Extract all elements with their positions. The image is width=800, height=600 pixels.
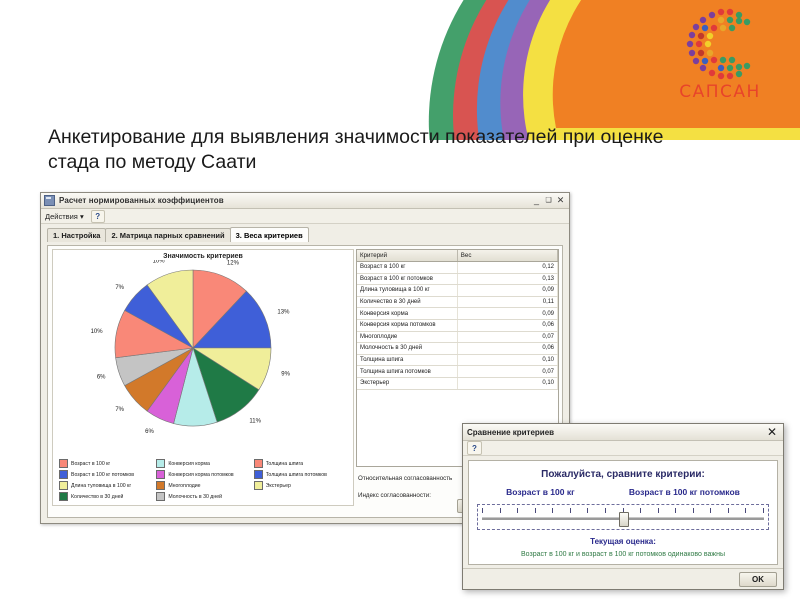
slider-tick xyxy=(517,508,518,513)
legend-item[interactable]: Возраст в 100 кг потомков xyxy=(59,470,154,479)
legend-label: Экстерьер xyxy=(266,483,291,489)
cell-weight: 0,06 xyxy=(457,343,557,355)
criterion-left-label: Возраст в 100 кг xyxy=(506,487,575,497)
column-header-criterion[interactable]: Критерий xyxy=(357,250,457,262)
ok-button[interactable]: OK xyxy=(739,572,777,587)
pie-percent-label: 10% xyxy=(153,260,166,265)
cell-weight: 0,09 xyxy=(457,285,557,297)
pie-percent-label: 6% xyxy=(145,429,154,435)
tab-settings[interactable]: 1. Настройка xyxy=(47,228,106,242)
tabstrip: 1. Настройка 2. Матрица парных сравнений… xyxy=(47,228,569,242)
legend-label: Длина туловища в 100 кг xyxy=(71,483,131,489)
page-title: Анкетирование для выявления значимости п… xyxy=(48,125,688,175)
maximize-button[interactable]: ❑ xyxy=(543,195,554,206)
legend-swatch-icon xyxy=(254,459,263,468)
cell-criterion: Конверсия корма потомков xyxy=(357,319,457,331)
cell-criterion: Экстерьер xyxy=(357,377,457,389)
legend-item[interactable]: Толщина шпига потомков xyxy=(254,470,349,479)
weights-table: Критерий Вес Возраст в 100 кг0,12Возраст… xyxy=(357,250,558,390)
logo: САПСАН xyxy=(655,8,785,108)
legend-swatch-icon xyxy=(156,459,165,468)
legend-swatch-icon xyxy=(59,459,68,468)
criterion-right-label: Возраст в 100 кг потомков xyxy=(629,487,740,497)
slider-tick xyxy=(552,508,553,513)
table-row[interactable]: Количество в 30 дней0,11 xyxy=(357,296,558,308)
table-body: Возраст в 100 кг0,12Возраст в 100 кг пот… xyxy=(357,262,558,390)
cell-criterion: Многоплодие xyxy=(357,331,457,343)
fade-mask-gradient xyxy=(300,0,430,140)
slider-tick xyxy=(482,508,483,513)
relative-consistency-label: Относительная согласованность xyxy=(358,475,466,482)
dialog-titlebar: Сравнение критериев ✕ xyxy=(463,424,783,441)
pie-percent-label: 10% xyxy=(91,329,104,335)
logo-dot-mark-icon xyxy=(675,8,765,80)
slider-thumb[interactable] xyxy=(619,512,629,527)
table-header-row: Критерий Вес xyxy=(357,250,558,262)
cell-weight: 0,09 xyxy=(457,308,557,320)
help-icon[interactable]: ? xyxy=(91,210,105,223)
legend-item[interactable]: Конверсия корма xyxy=(156,459,251,468)
slider-tick xyxy=(640,508,641,513)
comparison-slider[interactable] xyxy=(477,504,769,530)
table-row[interactable]: Возраст в 100 кг потомков0,13 xyxy=(357,273,558,285)
legend-label: Количество в 30 дней xyxy=(71,494,123,500)
slider-tick xyxy=(763,508,764,513)
legend-item[interactable]: Многоплодие xyxy=(156,481,251,490)
cell-criterion: Конверсия корма xyxy=(357,308,457,320)
legend-swatch-icon xyxy=(254,481,263,490)
cell-weight: 0,06 xyxy=(457,319,557,331)
column-header-weight[interactable]: Вес xyxy=(457,250,557,262)
table-row[interactable]: Возраст в 100 кг0,12 xyxy=(357,262,558,274)
cell-criterion: Толщина шпига xyxy=(357,354,457,366)
legend-swatch-icon xyxy=(59,492,68,501)
legend-swatch-icon xyxy=(254,470,263,479)
cell-criterion: Количество в 30 дней xyxy=(357,296,457,308)
table-row[interactable]: Экстерьер0,10 xyxy=(357,377,558,389)
legend-swatch-icon xyxy=(59,481,68,490)
pie-percent-label: 13% xyxy=(277,310,290,316)
pie-percent-label: 9% xyxy=(281,372,290,378)
legend-label: Молочность в 30 дней xyxy=(168,494,222,500)
slider-tick xyxy=(693,508,694,513)
pie-percent-label: 7% xyxy=(115,407,124,413)
table-row[interactable]: Конверсия корма0,09 xyxy=(357,308,558,320)
slider-tick xyxy=(605,508,606,513)
table-row[interactable]: Конверсия корма потомков0,06 xyxy=(357,319,558,331)
cell-weight: 0,12 xyxy=(457,262,557,274)
cell-criterion: Возраст в 100 кг потомков xyxy=(357,273,457,285)
legend-label: Толщина шпига потомков xyxy=(266,472,327,478)
app-titlebar: Расчет нормированных коэффициентов _ ❑ ✕ xyxy=(41,193,569,209)
pie-percent-label: 6% xyxy=(97,374,106,380)
legend-item[interactable]: Количество в 30 дней xyxy=(59,492,154,501)
tab-criteria-weights[interactable]: 3. Веса критериев xyxy=(230,227,309,242)
dialog-body: Пожалуйста, сравните критерии: Возраст в… xyxy=(468,460,778,565)
cell-weight: 0,13 xyxy=(457,273,557,285)
evaluation-label: Текущая оценка: xyxy=(469,537,777,546)
legend-label: Возраст в 100 кг потомков xyxy=(71,472,134,478)
legend-item[interactable]: Возраст в 100 кг xyxy=(59,459,154,468)
pie-chart-svg[interactable]: 12%13%9%11%9%6%7%6%10%7%10% xyxy=(65,260,341,438)
dialog-title: Сравнение критериев xyxy=(467,428,765,437)
slider-tick xyxy=(587,508,588,513)
cell-criterion: Длина туловища в 100 кг xyxy=(357,285,457,297)
dialog-prompt: Пожалуйста, сравните критерии: xyxy=(469,469,777,480)
document-icon xyxy=(44,195,55,206)
legend-swatch-icon xyxy=(156,481,165,490)
legend-label: Конверсия корма xyxy=(168,461,210,467)
table-row[interactable]: Длина туловища в 100 кг0,09 xyxy=(357,285,558,297)
table-head: Критерий Вес xyxy=(357,250,558,262)
slider-tick xyxy=(535,508,536,513)
pie-chart-panel: Значимость критериев 12%13%9%11%9%6%7%6%… xyxy=(52,249,354,506)
cell-criterion: Молочность в 30 дней xyxy=(357,343,457,355)
slider-tick xyxy=(728,508,729,513)
menu-item-actions[interactable]: Действия ▾ xyxy=(45,212,84,221)
evaluation-value: Возраст в 100 кг и возраст в 100 кг пото… xyxy=(469,551,777,558)
cell-weight: 0,10 xyxy=(457,354,557,366)
comparison-dialog: Сравнение критериев ✕ ? Пожалуйста, срав… xyxy=(462,423,784,590)
legend-swatch-icon xyxy=(156,470,165,479)
pie-percent-label: 12% xyxy=(227,261,240,267)
chart-title: Значимость критериев xyxy=(53,253,353,260)
logo-dots-group xyxy=(687,9,750,79)
cell-criterion: Возраст в 100 кг xyxy=(357,262,457,274)
slider-tick xyxy=(675,508,676,513)
slider-tick xyxy=(570,508,571,513)
dialog-toolbar: ? xyxy=(463,441,783,456)
legend-label: Толщина шпига xyxy=(266,461,303,467)
pie-percent-label: 11% xyxy=(249,419,261,425)
legend-item[interactable]: Конверсия корма потомков xyxy=(156,470,251,479)
cell-criterion: Толщина шпига потомков xyxy=(357,366,457,378)
legend-swatch-icon xyxy=(59,470,68,479)
close-button[interactable]: ✕ xyxy=(555,195,566,206)
dialog-help-icon[interactable]: ? xyxy=(467,441,482,455)
cell-weight: 0,07 xyxy=(457,331,557,343)
pie-percent-label: 7% xyxy=(115,285,124,291)
dialog-footer: OK xyxy=(463,568,783,589)
table-row[interactable]: Многоплодие0,07 xyxy=(357,331,558,343)
slider-tick xyxy=(658,508,659,513)
cell-weight: 0,10 xyxy=(457,377,557,389)
chart-legend: Возраст в 100 кгКонверсия кормаТолщина ш… xyxy=(59,459,349,501)
legend-item[interactable]: Толщина шпига xyxy=(254,459,349,468)
table-row[interactable]: Толщина шпига потомков0,07 xyxy=(357,366,558,378)
legend-item[interactable]: Экстерьер xyxy=(254,481,349,490)
criteria-pair-row: Возраст в 100 кг Возраст в 100 кг потомк… xyxy=(469,487,777,497)
legend-label: Многоплодие xyxy=(168,483,200,489)
slider-tick xyxy=(710,508,711,513)
logo-wordmark: САПСАН xyxy=(655,82,785,102)
minimize-button[interactable]: _ xyxy=(531,195,542,206)
legend-item[interactable]: Длина туловища в 100 кг xyxy=(59,481,154,490)
app-window-title: Расчет нормированных коэффициентов xyxy=(59,196,530,205)
tab-pairwise-matrix[interactable]: 2. Матрица парных сравнений xyxy=(105,228,230,242)
cell-weight: 0,07 xyxy=(457,366,557,378)
slider-tick xyxy=(745,508,746,513)
legend-item[interactable]: Молочность в 30 дней xyxy=(156,492,251,501)
legend-label: Возраст в 100 кг xyxy=(71,461,110,467)
table-row[interactable]: Толщина шпига0,10 xyxy=(357,354,558,366)
consistency-index-label: Индекс согласованности: xyxy=(358,492,466,499)
legend-label: Конверсия корма потомков xyxy=(168,472,233,478)
app-menubar: Действия ▾ ? xyxy=(41,209,569,224)
fade-mask-left xyxy=(0,0,320,140)
legend-swatch-icon xyxy=(156,492,165,501)
pie-slices-group[interactable] xyxy=(115,270,271,426)
slider-tick xyxy=(500,508,501,513)
dialog-close-icon[interactable]: ✕ xyxy=(765,426,779,438)
cell-weight: 0,11 xyxy=(457,296,557,308)
table-row[interactable]: Молочность в 30 дней0,06 xyxy=(357,343,558,355)
